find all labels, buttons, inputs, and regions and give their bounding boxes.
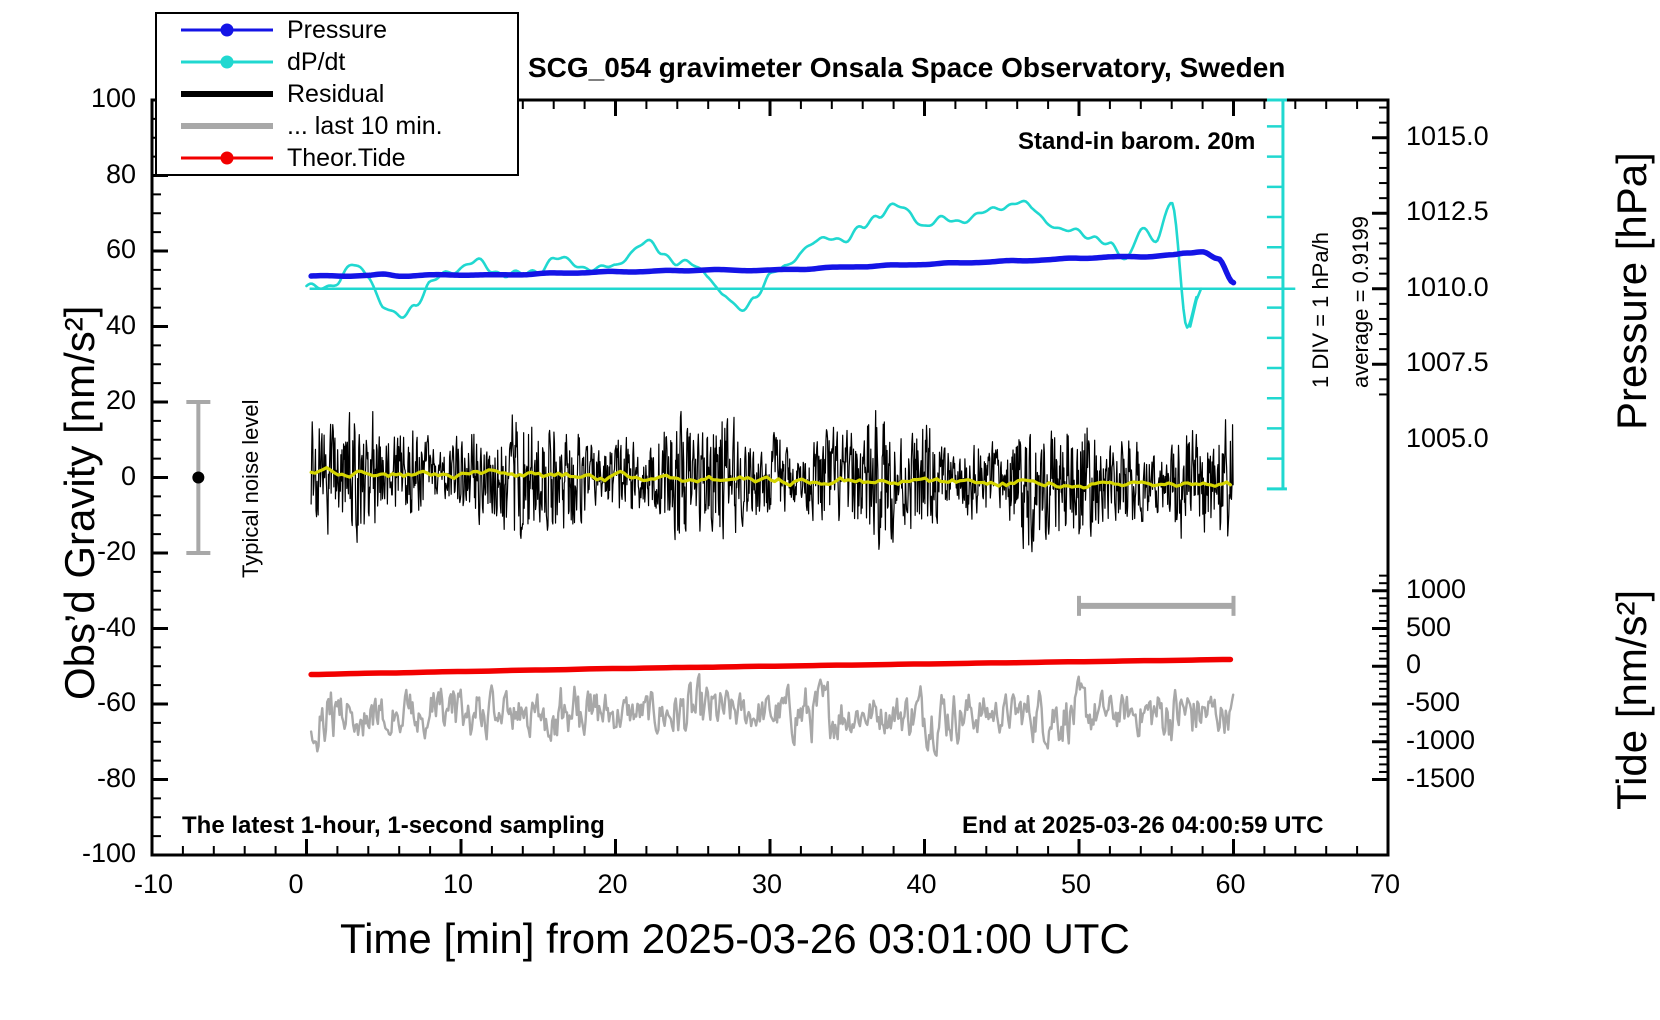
annotation-footer-left: The latest 1-hour, 1-second sampling	[182, 812, 605, 840]
series-last-10-min	[311, 674, 1233, 755]
legend-label-theortide: Theor.Tide	[287, 144, 406, 173]
x-tick-label: 20	[598, 869, 628, 900]
series-theor-tide	[311, 659, 1230, 674]
y-tick-label-left: -80	[0, 763, 136, 794]
x-tick-label: 70	[1370, 869, 1400, 900]
y-tick-label-pressure: 1010.0	[1406, 272, 1489, 303]
y-tick-label-left: -40	[0, 612, 136, 643]
x-axis-title: Time [min] from 2025-03-26 03:01:00 UTC	[340, 915, 1130, 963]
legend-entry-pressure: Pressure	[157, 14, 517, 46]
legend-label-last10: ... last 10 min.	[287, 112, 443, 141]
x-tick-label: 30	[752, 869, 782, 900]
y-tick-label-left: 0	[0, 461, 136, 492]
y-tick-label-left: -60	[0, 687, 136, 718]
series-dpdt	[307, 201, 1202, 328]
chart-title: SCG_054 gravimeter Onsala Space Observat…	[528, 52, 1285, 84]
x-tick-label: 60	[1216, 869, 1246, 900]
x-tick-label: 10	[443, 869, 473, 900]
y-tick-label-left: -100	[0, 838, 136, 869]
y-tick-label-tide: -1000	[1406, 725, 1475, 756]
x-tick-label: 0	[289, 869, 304, 900]
y-tick-label-left: 60	[0, 234, 136, 265]
legend-swatch-residual	[181, 85, 273, 103]
legend-label-residual: Residual	[287, 80, 384, 109]
y-tick-label-pressure: 1007.5	[1406, 347, 1489, 378]
legend-entry-last10: ... last 10 min.	[157, 110, 517, 142]
x-tick-label: 50	[1061, 869, 1091, 900]
y-tick-label-tide: -1500	[1406, 763, 1475, 794]
annotation-typical-noise-level: Typical noise level	[238, 399, 264, 578]
y-tick-label-left: -20	[0, 536, 136, 567]
y-tick-label-tide: 500	[1406, 612, 1451, 643]
series-pressure	[311, 252, 1233, 283]
legend-swatch-last10	[181, 117, 273, 135]
y-tick-label-tide: 1000	[1406, 574, 1466, 605]
annotation-stand-in-barom: Stand-in barom. 20m	[1018, 128, 1255, 156]
annotation-footer-right: End at 2025-03-26 04:00:59 UTC	[962, 812, 1324, 840]
legend-swatch-pressure	[181, 21, 273, 39]
legend-swatch-theortide	[181, 149, 273, 167]
y-tick-label-tide: 0	[1406, 649, 1421, 680]
y-axis-right-pressure-title: Pressure [hPa]	[1608, 152, 1656, 430]
chart-legend: Pressure dP/dt Residual ... last 10 min.…	[155, 12, 519, 176]
legend-swatch-dpdt	[181, 53, 273, 71]
legend-entry-residual: Residual	[157, 78, 517, 110]
x-tick-label: -10	[134, 869, 173, 900]
legend-label-pressure: Pressure	[287, 16, 387, 45]
y-tick-label-pressure: 1012.5	[1406, 196, 1489, 227]
legend-entry-dpdt: dP/dt	[157, 46, 517, 78]
y-tick-label-left: 40	[0, 310, 136, 341]
x-tick-label: 40	[907, 869, 937, 900]
y-tick-label-tide: -500	[1406, 687, 1460, 718]
legend-label-dpdt: dP/dt	[287, 48, 345, 77]
y-tick-label-pressure: 1005.0	[1406, 423, 1489, 454]
annotation-average: average = 0.9199	[1348, 216, 1374, 388]
y-tick-label-left: 20	[0, 385, 136, 416]
annotation-div-scale: 1 DIV = 1 hPa/h	[1308, 232, 1334, 388]
noise-level-marker	[192, 472, 204, 484]
y-tick-label-left: 100	[0, 83, 136, 114]
y-axis-right-tide-title: Tide [nm/s²]	[1608, 590, 1656, 810]
y-tick-label-left: 80	[0, 159, 136, 190]
legend-entry-theortide: Theor.Tide	[157, 142, 517, 174]
y-tick-label-pressure: 1015.0	[1406, 121, 1489, 152]
